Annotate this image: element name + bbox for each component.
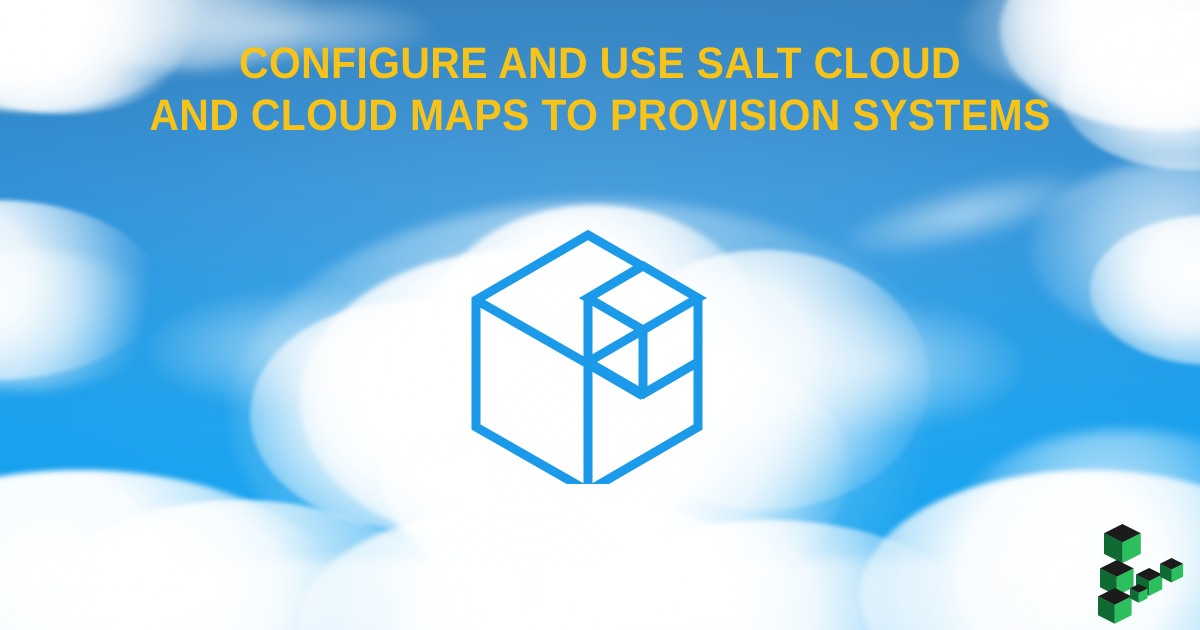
cloud-bottom-haze [0, 560, 1200, 630]
cloud-center-tail-left [150, 290, 470, 410]
brand-logo[interactable] [1096, 520, 1192, 624]
logo-cube-1 [1104, 524, 1141, 563]
banner: CONFIGURE AND USE SALT CLOUD AND CLOUD M… [0, 0, 1200, 630]
logo-cube-4 [1160, 558, 1183, 582]
page-title: CONFIGURE AND USE SALT CLOUD AND CLOUD M… [0, 38, 1200, 142]
title-line-1: CONFIGURE AND USE SALT CLOUD [42, 38, 1158, 90]
isometric-cube-icon [466, 222, 756, 484]
cloud-center-tail-right [720, 300, 1020, 430]
logo-cube-5 [1098, 588, 1132, 624]
isometric-cube-svg [466, 222, 756, 484]
title-line-2: AND CLOUD MAPS TO PROVISION SYSTEMS [42, 90, 1158, 142]
green-cubes-logo-icon [1096, 520, 1192, 624]
